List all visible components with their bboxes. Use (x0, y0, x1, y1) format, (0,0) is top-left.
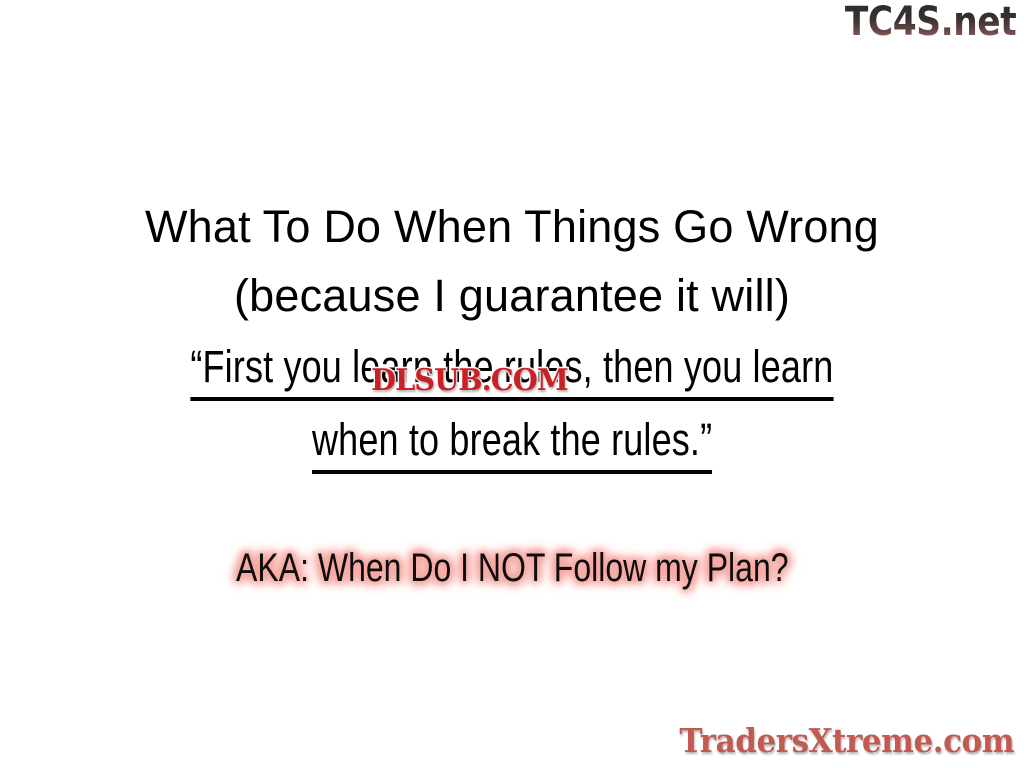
title-line-2-row: (because I guarantee it will) (0, 267, 1024, 336)
quote-line-2: when to break the rules.” (312, 411, 712, 474)
subtitle-text: AKA: When Do I NOT Follow my Plan? (236, 544, 788, 592)
subtitle-line: AKA: When Do I NOT Follow my Plan? (0, 544, 1024, 592)
presentation-slide: TC4S.net What To Do When Things Go Wrong… (0, 0, 1024, 768)
quote-line-2-row: when to break the rules.” (0, 411, 1024, 480)
title-line-1: What To Do When Things Go Wrong (145, 201, 879, 252)
dlsub-watermark: DLSUB.COM (371, 364, 568, 398)
tc4s-watermark: TC4S.net (845, 2, 1016, 42)
slide-text-block: What To Do When Things Go Wrong (because… (0, 198, 1024, 480)
title-line-2: (because I guarantee it will) (234, 270, 790, 321)
tradersxtreme-watermark: TradersXtreme.com (679, 722, 1014, 760)
title-line-1-row: What To Do When Things Go Wrong (0, 198, 1024, 267)
